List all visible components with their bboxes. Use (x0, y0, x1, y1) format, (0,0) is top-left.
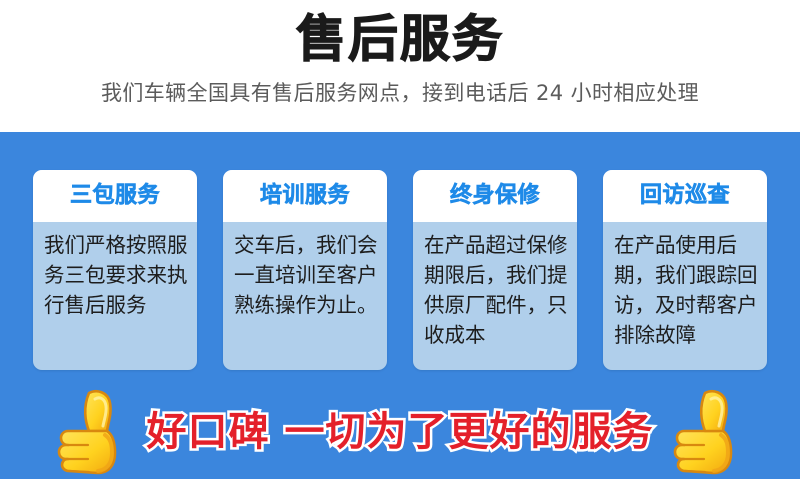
blue-content-panel: 三包服务 我们严格按照服务三包要求来执行售后服务 培训服务 交车后，我们会一直培… (0, 132, 800, 479)
page-subtitle: 我们车辆全国具有售后服务网点，接到电话后 24 小时相应处理 (0, 70, 800, 108)
service-card-row: 三包服务 我们严格按照服务三包要求来执行售后服务 培训服务 交车后，我们会一直培… (33, 170, 767, 370)
service-card-title: 终身保修 (450, 184, 540, 208)
service-card-description: 在产品使用后期，我们跟踪回访，及时帮客户排除故障 (614, 230, 758, 350)
header-section: 售后服务 我们车辆全国具有售后服务网点，接到电话后 24 小时相应处理 (0, 0, 800, 132)
service-promo-banner: 售后服务 我们车辆全国具有售后服务网点，接到电话后 24 小时相应处理 三包服务… (0, 0, 800, 479)
service-card-title: 培训服务 (260, 184, 350, 208)
service-card-lifetime-warranty[interactable]: 终身保修 在产品超过保修期限后，我们提供原厂配件，只收成本 (413, 170, 577, 370)
service-card-body: 在产品超过保修期限后，我们提供原厂配件，只收成本 (413, 222, 577, 370)
service-card-description: 我们严格按照服务三包要求来执行售后服务 (44, 230, 188, 320)
service-card-training[interactable]: 培训服务 交车后，我们会一直培训至客户熟练操作为止。 (223, 170, 387, 370)
service-card-header: 终身保修 (413, 170, 577, 222)
page-title: 售后服务 (0, 0, 800, 70)
service-card-description: 交车后，我们会一直培训至客户熟练操作为止。 (234, 230, 378, 320)
service-card-title: 回访巡查 (640, 184, 730, 208)
slogan-text: 好口碑 一切为了更好的服务 (147, 406, 654, 458)
service-card-sanbao[interactable]: 三包服务 我们严格按照服务三包要求来执行售后服务 (33, 170, 197, 370)
service-card-description: 在产品超过保修期限后，我们提供原厂配件，只收成本 (424, 230, 568, 350)
service-card-followup-inspection[interactable]: 回访巡查 在产品使用后期，我们跟踪回访，及时帮客户排除故障 (603, 170, 767, 370)
slogan-row: 好口碑 一切为了更好的服务 (0, 385, 800, 479)
service-card-body: 交车后，我们会一直培训至客户熟练操作为止。 (223, 222, 387, 370)
service-card-title: 三包服务 (70, 184, 160, 208)
service-card-header: 培训服务 (223, 170, 387, 222)
service-card-header: 三包服务 (33, 170, 197, 222)
service-card-header: 回访巡查 (603, 170, 767, 222)
thumbs-up-icon (55, 387, 129, 477)
service-card-body: 在产品使用后期，我们跟踪回访，及时帮客户排除故障 (603, 222, 767, 370)
thumbs-up-icon (671, 387, 745, 477)
service-card-body: 我们严格按照服务三包要求来执行售后服务 (33, 222, 197, 370)
